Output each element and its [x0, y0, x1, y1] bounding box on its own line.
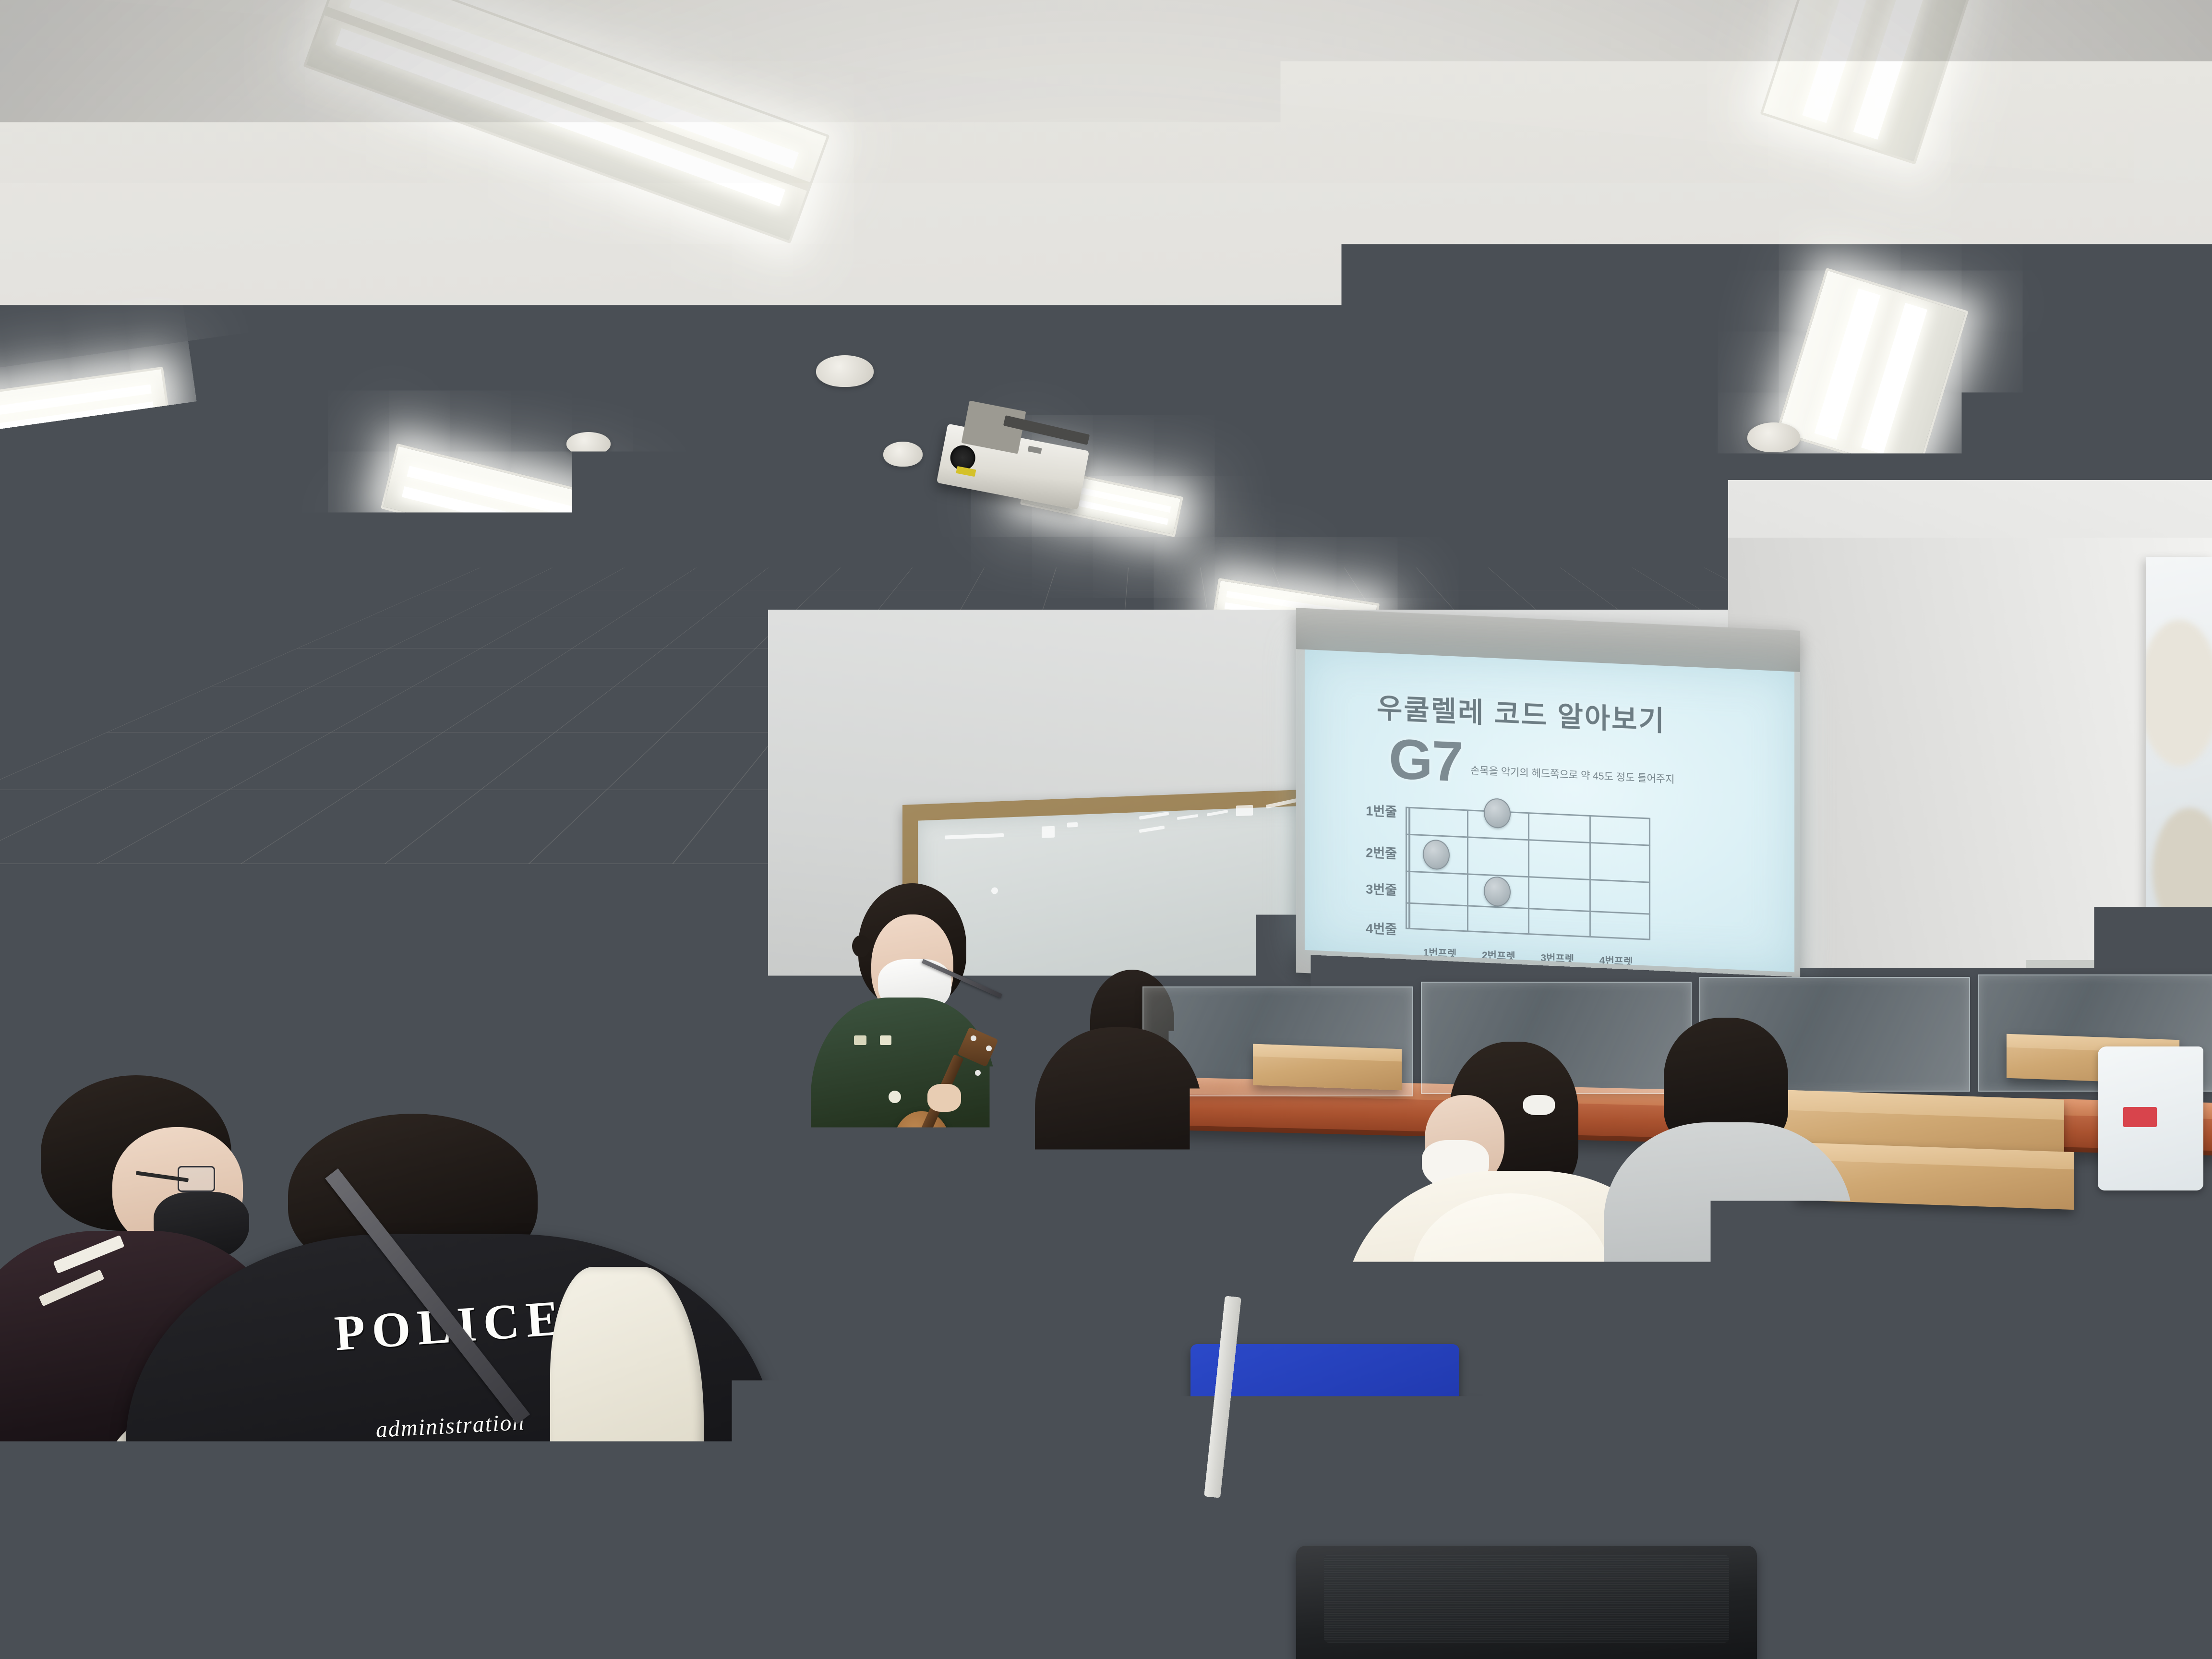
chair[interactable] [2055, 1248, 2212, 1407]
smoke-detector-icon [816, 355, 874, 387]
fret-label-4: 4번프렛 [1599, 952, 1633, 968]
projection-screen-frame: 우쿨렐레 코드 알아보기 G7 손목을 악기의 헤드쪽으로 약 45도 정도 틀… [1296, 608, 1800, 996]
door-notice-sticker [0, 864, 71, 898]
slide-chord-name: G7 [1389, 726, 1462, 795]
reflection-chord-name: G7 [407, 542, 466, 593]
classroom-photo: 우쿨렐레 코드 알아보기 G7 손목을 악기의 헤드쪽으로 약 45도 정도 틀… [0, 0, 2212, 1659]
smoke-detector-icon [883, 442, 923, 467]
ukulele-box [1421, 1397, 1776, 1531]
handout [1282, 1210, 1406, 1300]
string-label-1: 1번줄 [1339, 799, 1397, 820]
projected-slide: 우쿨렐레 코드 알아보기 G7 손목을 악기의 헤드쪽으로 약 45도 정도 틀… [1305, 649, 1794, 972]
acrylic-divider [1402, 1092, 1672, 1236]
student-police-jacket: POLICE administration [163, 1114, 787, 1659]
smoke-detector-icon [1747, 422, 1800, 452]
fret-label-1: 1번프렛 [1423, 945, 1457, 961]
fret-label-3: 3번프렛 [1540, 950, 1574, 966]
shopping-bag [2098, 1046, 2203, 1190]
reflection-slide-title: 우쿨렐레 코드 알아보기 [253, 508, 480, 540]
ukulele-box [1853, 1183, 2026, 1242]
glass-door-handle[interactable] [29, 922, 39, 1032]
music-stand [674, 944, 770, 1012]
string-label-4: 4번줄 [1339, 917, 1397, 938]
student-front-right [970, 1027, 1267, 1469]
notice-paper [312, 779, 375, 843]
fret-label-2: 2번프렛 [1482, 947, 1515, 963]
notice-paper [235, 778, 302, 845]
string-label-2: 2번줄 [1339, 841, 1397, 862]
string-label-3: 3번줄 [1339, 878, 1397, 899]
varsity-sleeve [550, 1267, 704, 1651]
emergency-exit-sign [0, 527, 42, 594]
chair-label-tag [1881, 1370, 1925, 1383]
chord-diagram: 1번줄 2번줄 3번줄 4번줄 1번프렛 2번프렛 3번프렛 4번프렛 [1406, 807, 1650, 940]
slide-subtitle: 손목을 악기의 헤드쪽으로 약 45도 정도 틀어주지 [1470, 763, 1674, 786]
chair[interactable] [1786, 1238, 2035, 1416]
chair[interactable] [1296, 1546, 1757, 1659]
